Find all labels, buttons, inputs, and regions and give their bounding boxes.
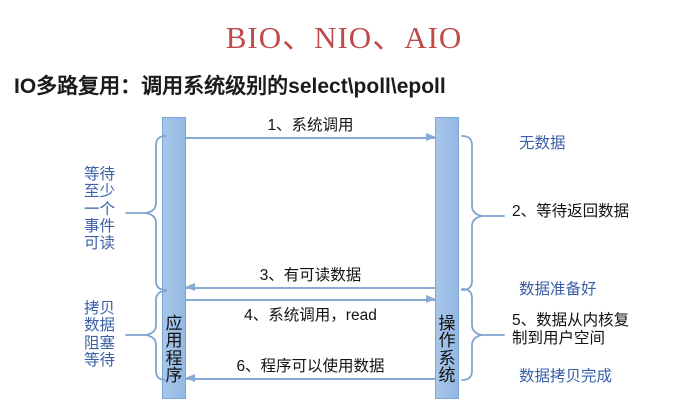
annotation-data-ready: 数据准备好	[519, 281, 597, 298]
brace-right-upper-icon	[458, 133, 506, 293]
page-title: BIO、NIO、AIO	[0, 12, 688, 57]
brace-left-upper-icon	[124, 133, 168, 293]
annotation-wait-event-line-3: 一个	[84, 201, 115, 218]
arrow-label-message-1: 1、系统调用	[186, 113, 435, 135]
arrow-label-message-4: 4、系统调用，read	[186, 303, 435, 325]
annotation-wait-event-line-1: 等待	[84, 166, 115, 183]
arrow-shaft	[186, 137, 435, 139]
annotation-wait-event: 等待 至少 一个 事件 可读	[84, 166, 115, 253]
lifeline-operating-system-label: 操 作 系 统	[436, 315, 458, 384]
annotation-wait-event-line-2: 至少	[84, 183, 115, 200]
brace-left-lower-icon	[124, 288, 168, 384]
annotation-no-data: 无数据	[519, 135, 566, 152]
lifeline-os-char-4: 统	[436, 367, 458, 384]
lifeline-os-char-1: 操	[436, 315, 458, 332]
arrow-shaft	[186, 287, 435, 289]
annotation-kernel-copy-line-2: 制到用户空间	[512, 330, 629, 348]
annotation-copy-block-line-3: 阻塞	[84, 335, 115, 352]
arrow-shaft	[186, 299, 435, 301]
annotation-wait-event-line-5: 可读	[84, 235, 115, 252]
arrow-label-message-6: 6、程序可以使用数据	[186, 354, 435, 376]
lifeline-os-char-2: 作	[436, 332, 458, 349]
annotation-copy-block-line-4: 等待	[84, 352, 115, 369]
lifeline-os-char-3: 系	[436, 350, 458, 367]
diagram-canvas: BIO、NIO、AIO IO多路复用：调用系统级别的select\poll\ep…	[0, 0, 688, 404]
lifeline-operating-system: 操 作 系 统	[435, 117, 459, 399]
arrow-head-right-icon	[426, 295, 436, 303]
annotation-copy-block-line-1: 拷贝	[84, 300, 115, 317]
annotation-copy-block-line-2: 数据	[84, 317, 115, 334]
annotation-wait-return-data: 2、等待返回数据	[512, 203, 629, 220]
annotation-copy-done: 数据拷贝完成	[519, 368, 612, 385]
annotation-kernel-copy-line-1: 5、数据从内核复	[512, 312, 629, 330]
arrow-label-message-3: 3、有可读数据	[186, 263, 435, 285]
annotation-kernel-copy: 5、数据从内核复 制到用户空间	[512, 312, 629, 349]
brace-right-lower-icon	[458, 286, 506, 384]
page-subtitle: IO多路复用：调用系统级别的select\poll\epoll	[14, 70, 446, 100]
arrow-shaft	[186, 378, 435, 380]
annotation-copy-block: 拷贝 数据 阻塞 等待	[84, 300, 115, 369]
annotation-wait-event-line-4: 事件	[84, 218, 115, 235]
